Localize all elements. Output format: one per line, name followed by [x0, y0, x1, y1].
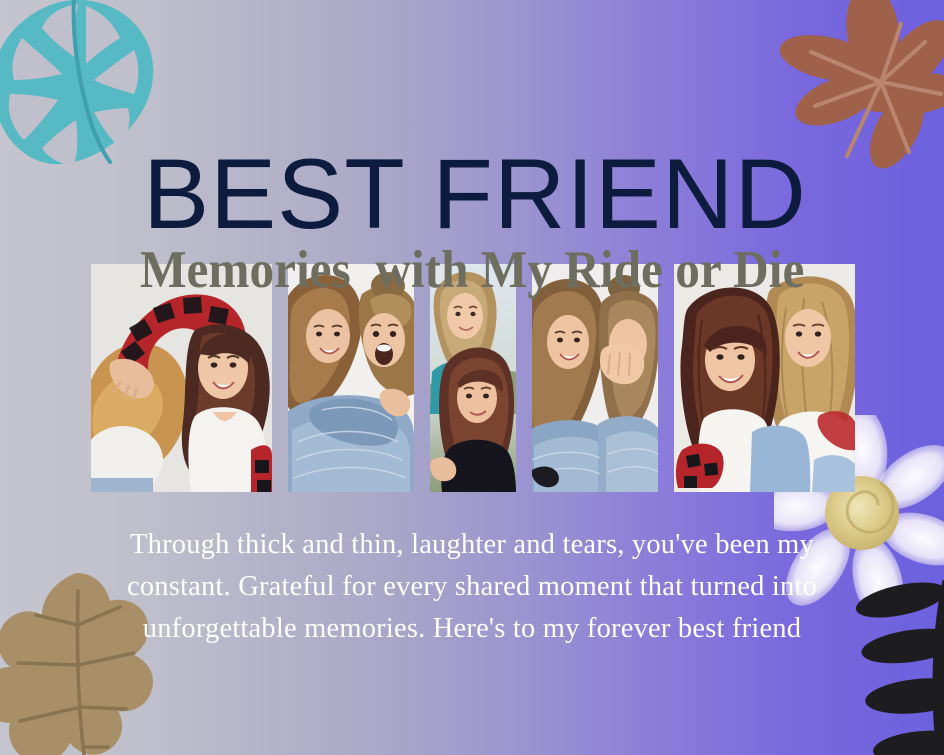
message-line-1: Through thick and thin, laughter and tea… [60, 524, 884, 566]
message-line-2: constant. Grateful for every shared mome… [60, 566, 884, 608]
subtitle-block: Memories with My Ride or Die [0, 200, 944, 341]
message-body: Through thick and thin, laughter and tea… [60, 524, 884, 650]
best-friend-poster: BEST FRIEND Memories with My Ride or Die [0, 0, 944, 755]
page-subtitle: Memories with My Ride or Die [140, 244, 804, 297]
message-line-3: unforgettable memories. Here's to my for… [60, 608, 884, 650]
